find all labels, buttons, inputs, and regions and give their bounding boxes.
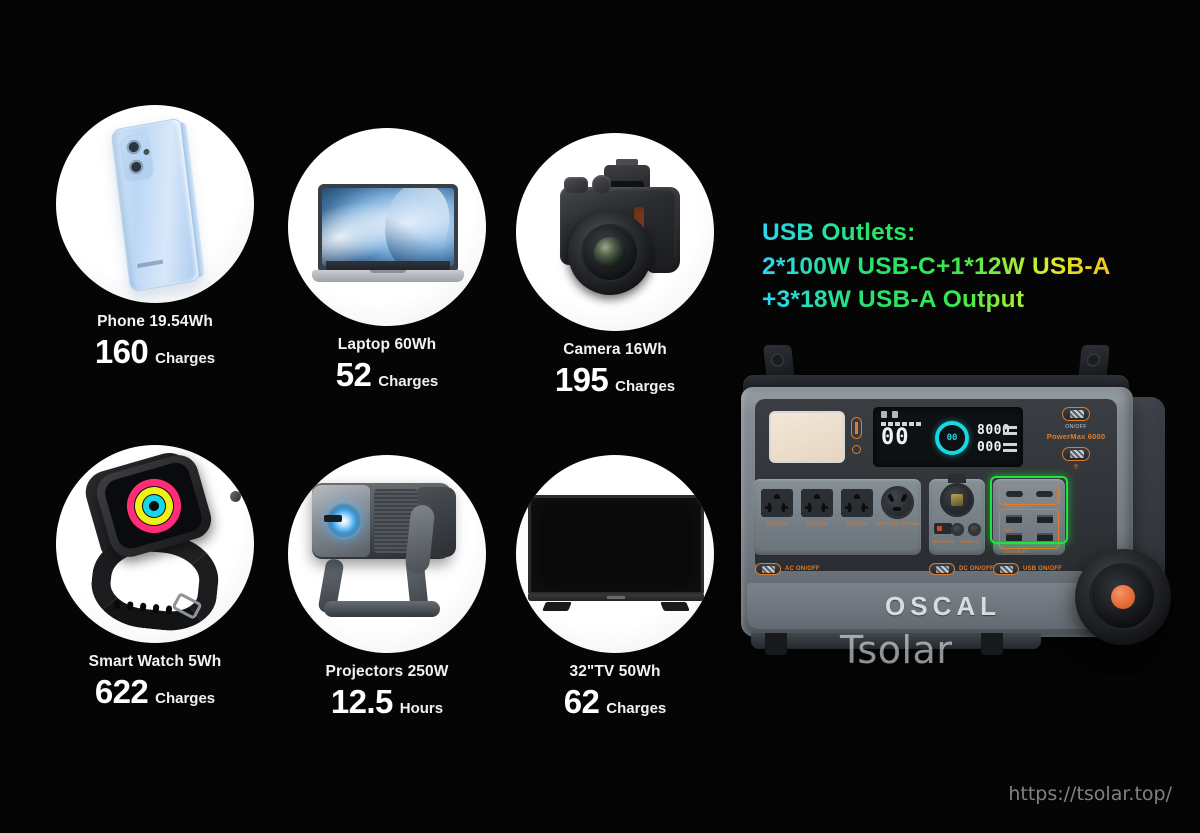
device-unit: Charges xyxy=(615,378,675,395)
device-card-tv: 32"TV 50Wh 62 Charges xyxy=(500,455,730,718)
power-max-label: PowerMax 6000 xyxy=(1043,432,1109,441)
power-station-product-image: 00 00 8000 000 ON/OFF PowerMax 6000 xyxy=(735,345,1190,675)
ac-toggle-switch[interactable] xyxy=(755,563,781,575)
car-cigarette-port[interactable] xyxy=(940,483,974,517)
phone-icon xyxy=(56,105,254,303)
usb-a-label-2: 12W USB-A*1 xyxy=(1003,549,1028,554)
power-max-toggle[interactable] xyxy=(1062,407,1090,421)
usb-headline-line-3: +3*18W USB-A Output xyxy=(762,283,1182,317)
power-max-section: ON/OFF PowerMax 6000 ⍟ xyxy=(1043,407,1109,472)
anderson-port[interactable] xyxy=(934,523,952,534)
lcd-status-icons xyxy=(881,411,898,418)
smart-watch-icon xyxy=(56,445,254,643)
dc-power-toggle[interactable]: DC ON/OFF xyxy=(929,563,994,575)
tv-logo xyxy=(607,596,625,599)
laptop-screen xyxy=(322,188,454,266)
dc-port-label: DC5521*2 xyxy=(955,539,983,544)
bluetooth-toggle[interactable] xyxy=(1062,447,1090,461)
device-card-phone: Phone 19.54Wh 160 Charges xyxy=(40,105,270,368)
phone-logo xyxy=(137,260,163,268)
camera-icon xyxy=(516,133,714,331)
watch-body xyxy=(78,457,236,633)
device-unit: Charges xyxy=(606,700,666,717)
laptop-body xyxy=(312,184,464,282)
device-metric: 12.5 Hours xyxy=(272,685,502,718)
device-unit: Charges xyxy=(378,373,438,390)
dc5521-port[interactable] xyxy=(951,523,964,536)
watch-face xyxy=(102,460,205,552)
camera-dial xyxy=(592,175,611,194)
device-unit: Charges xyxy=(155,690,215,707)
ac-outlet-panel: 120V 20A 120V 20A 120V 20A 120V-240V 30A… xyxy=(753,479,921,555)
bluetooth-icon: ⍟ xyxy=(1043,462,1109,472)
lcd-output-value: 000 xyxy=(977,440,1002,455)
lcd-battery-percent: 00 xyxy=(881,427,910,449)
lcd-display: 00 00 8000 000 xyxy=(873,407,1023,467)
chassis-notch xyxy=(981,633,1003,655)
wheel-hub-cap xyxy=(1111,585,1135,609)
device-metric: 52 Charges xyxy=(272,358,502,391)
tv-foot xyxy=(660,602,690,611)
dc-toggle-switch[interactable] xyxy=(929,563,955,575)
device-unit: Hours xyxy=(400,700,443,717)
device-value: 195 xyxy=(555,363,608,396)
device-metric: 195 Charges xyxy=(500,363,730,396)
chassis-notch xyxy=(765,633,787,655)
projector-body xyxy=(308,477,470,627)
poster-canvas: Phone 19.54Wh 160 Charges Laptop 60 xyxy=(0,0,1200,833)
laptop-base xyxy=(312,270,464,282)
usb-headline-line-1: USB Outlets: xyxy=(762,216,1182,250)
usb-outlets-headline: USB Outlets: 2*100W USB-C+1*12W USB-A +3… xyxy=(762,216,1182,317)
device-value: 12.5 xyxy=(331,685,393,718)
usb-headline-line-2: 2*100W USB-C+1*12W USB-A xyxy=(762,250,1182,284)
brand-watermark: Tsolar xyxy=(840,628,952,672)
device-card-camera: Camera 16Wh 195 Charges xyxy=(500,133,730,396)
activity-rings-icon xyxy=(120,472,187,539)
device-caption: Projectors 250W 12.5 Hours xyxy=(272,663,502,718)
device-metric: 62 Charges xyxy=(500,685,730,718)
dc-outlet-panel: ANDERSON DC5521*2 xyxy=(929,479,985,555)
device-value: 62 xyxy=(564,685,600,718)
lcd-tick xyxy=(1003,426,1017,429)
usb-toggle-switch[interactable] xyxy=(993,563,1019,575)
lcd-gauge-value: 00 xyxy=(939,425,965,451)
lcd-tick xyxy=(1003,443,1017,446)
transport-wheel xyxy=(1075,549,1171,645)
dc5521-port[interactable] xyxy=(968,523,981,536)
ac-outlet-label: 120V-240V 30A Max xyxy=(875,521,921,526)
ac-outlet-label: 120V 20A xyxy=(797,521,837,526)
device-caption: Laptop 60Wh 52 Charges xyxy=(272,336,502,391)
url-watermark: https://tsolar.top/ xyxy=(1008,783,1172,805)
device-value: 622 xyxy=(95,675,148,708)
tv-body xyxy=(528,495,704,611)
tv-foot xyxy=(542,602,572,611)
usb-section-highlight xyxy=(990,476,1068,544)
device-card-smart-watch: Smart Watch 5Wh 622 Charges xyxy=(40,445,270,708)
device-title: Projectors 250W xyxy=(272,663,502,681)
projector-front xyxy=(312,485,370,557)
device-metric: 160 Charges xyxy=(40,335,270,368)
laptop-lid xyxy=(318,184,458,270)
dc-port-label: ANDERSON xyxy=(930,539,956,544)
light-button-icon[interactable] xyxy=(851,417,862,439)
laptop-keyboard xyxy=(326,261,450,270)
device-title: Laptop 60Wh xyxy=(272,336,502,354)
ac-outlet-label: 120V 20A xyxy=(757,521,797,526)
device-card-projector: Projectors 250W 12.5 Hours xyxy=(272,455,502,718)
tv-icon xyxy=(516,455,714,653)
phone-body xyxy=(111,117,202,292)
device-value: 160 xyxy=(95,335,148,368)
oscal-logo: OSCAL xyxy=(885,591,1001,622)
usb-power-toggle[interactable]: USB ON/OFF xyxy=(993,563,1062,575)
lcd-circular-gauge: 00 xyxy=(935,421,969,455)
device-title: Smart Watch 5Wh xyxy=(40,653,270,671)
tv-screen xyxy=(528,495,704,595)
lcd-tick xyxy=(1003,432,1017,435)
camera-dial xyxy=(564,177,588,193)
lcd-tick xyxy=(1003,449,1017,452)
ac-power-toggle[interactable]: AC ON/OFF xyxy=(755,563,820,575)
ac-outlet[interactable] xyxy=(841,489,873,517)
twist-lock-outlet[interactable] xyxy=(881,486,914,519)
device-title: Phone 19.54Wh xyxy=(40,313,270,331)
ac-outlet[interactable] xyxy=(801,489,833,517)
device-title: 32"TV 50Wh xyxy=(500,663,730,681)
projector-icon xyxy=(288,455,486,653)
device-title: Camera 16Wh xyxy=(500,341,730,359)
camera-body xyxy=(542,161,692,293)
phone-camera-module xyxy=(119,132,154,183)
device-value: 52 xyxy=(336,358,372,391)
laptop-icon xyxy=(288,128,486,326)
phone-edge xyxy=(180,122,205,278)
usb-toggle-label: USB ON/OFF xyxy=(1023,566,1062,572)
device-caption: Smart Watch 5Wh 622 Charges xyxy=(40,653,270,708)
device-caption: Camera 16Wh 195 Charges xyxy=(500,341,730,396)
watch-crown xyxy=(229,490,243,504)
device-caption: Phone 19.54Wh 160 Charges xyxy=(40,313,270,368)
power-max-switch-label: ON/OFF xyxy=(1043,424,1109,430)
device-unit: Charges xyxy=(155,350,215,367)
ac-outlet-label: 120V 20A xyxy=(837,521,877,526)
device-caption: 32"TV 50Wh 62 Charges xyxy=(500,663,730,718)
light-indicator-icon xyxy=(852,445,861,454)
projector-sensor xyxy=(324,515,342,522)
led-light-panel xyxy=(769,411,845,463)
device-metric: 622 Charges xyxy=(40,675,270,708)
camera-lens xyxy=(568,211,652,295)
ac-outlet[interactable] xyxy=(761,489,793,517)
car-port-cap[interactable] xyxy=(948,474,966,483)
device-card-laptop: Laptop 60Wh 52 Charges xyxy=(272,128,502,391)
dc-toggle-label: DC ON/OFF xyxy=(959,566,994,572)
ac-toggle-label: AC ON/OFF xyxy=(785,566,820,572)
device-grid: Phone 19.54Wh 160 Charges Laptop 60 xyxy=(0,0,740,833)
